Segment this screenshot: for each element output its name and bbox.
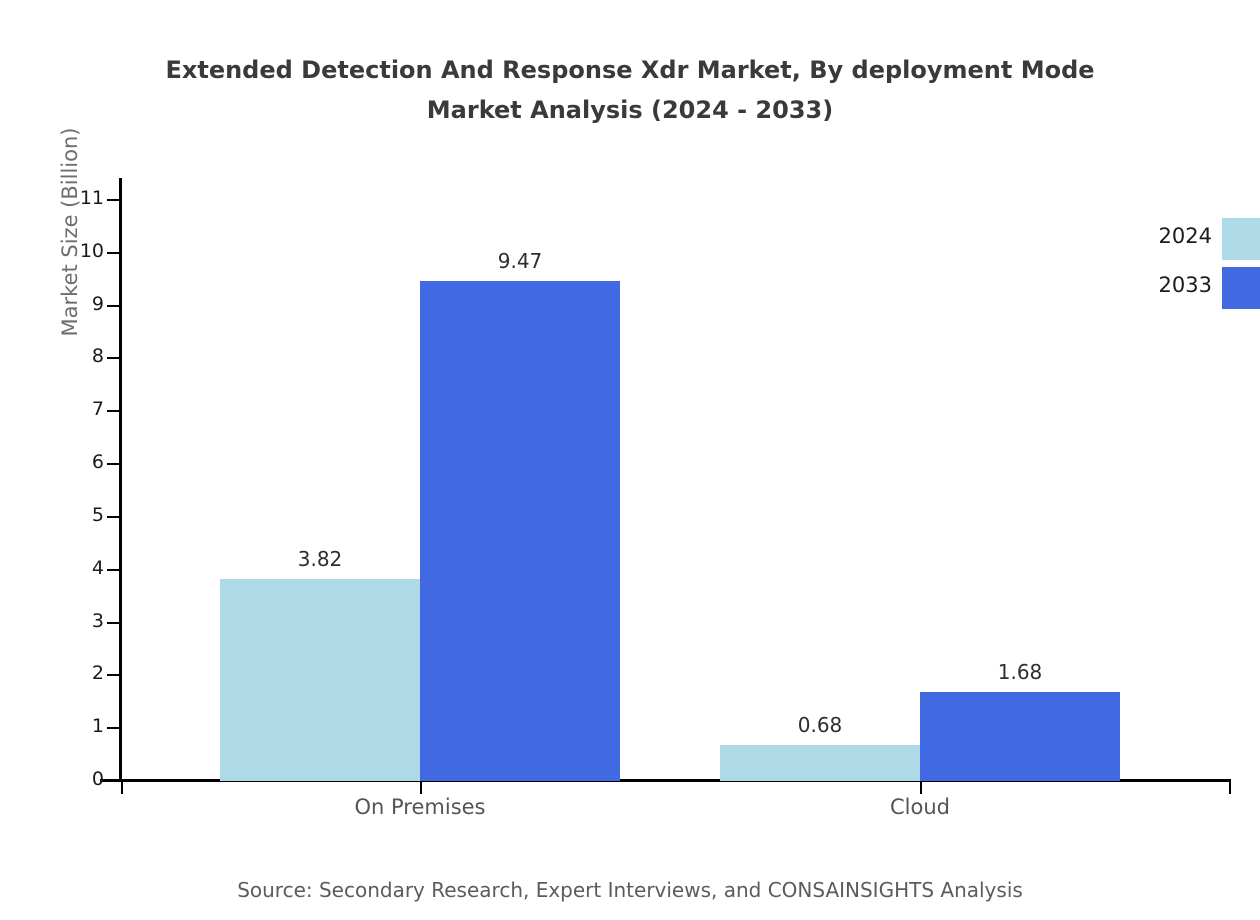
legend-item-2024[interactable]: 2024 <box>1120 218 1260 267</box>
x-tick-label-on-premises: On Premises <box>260 795 580 819</box>
y-tick-5 <box>107 516 120 518</box>
y-tick-label-5: 5 <box>60 504 104 526</box>
bar-on-premises-2033[interactable] <box>420 281 620 781</box>
source-note: Source: Secondary Research, Expert Inter… <box>0 878 1260 902</box>
y-tick-4 <box>107 569 120 571</box>
y-tick-label-6: 6 <box>60 451 104 473</box>
y-tick-9 <box>107 305 120 307</box>
chart-title-line-2: Market Analysis (2024 - 2033) <box>0 90 1260 130</box>
legend-item-2033[interactable]: 2033 <box>1120 267 1260 316</box>
y-tick-8 <box>107 357 120 359</box>
bar-cloud-2024[interactable] <box>720 745 920 781</box>
chart-title-line-1: Extended Detection And Response Xdr Mark… <box>0 50 1260 90</box>
y-tick-label-0: 0 <box>60 768 104 790</box>
bar-on-premises-2024[interactable] <box>220 579 420 781</box>
y-tick-3 <box>107 622 120 624</box>
y-tick-label-1: 1 <box>60 715 104 737</box>
x-tick-on-premises <box>420 781 422 794</box>
chart-title: Extended Detection And Response Xdr Mark… <box>0 50 1260 130</box>
legend-label-2024: 2024 <box>1120 224 1212 248</box>
y-tick-label-3: 3 <box>60 610 104 632</box>
legend-label-2033: 2033 <box>1120 273 1212 297</box>
y-tick-label-4: 4 <box>60 557 104 579</box>
x-tick-label-cloud: Cloud <box>760 795 1080 819</box>
bar-value-label-on-premises-2033: 9.47 <box>420 249 620 273</box>
y-tick-2 <box>107 674 120 676</box>
y-tick-10 <box>107 252 120 254</box>
chart-figure: Extended Detection And Response Xdr Mark… <box>0 0 1260 920</box>
y-tick-label-11: 11 <box>60 187 104 209</box>
x-edge-tick-1 <box>1229 781 1231 794</box>
y-axis-line <box>119 178 122 782</box>
y-tick-6 <box>107 463 120 465</box>
y-tick-label-10: 10 <box>60 240 104 262</box>
x-edge-tick-0 <box>121 781 123 794</box>
chart-legend: 2024 2033 <box>1120 218 1260 316</box>
x-tick-cloud <box>920 781 922 794</box>
y-axis-label-wrap: Market Size (Billion) <box>0 0 60 920</box>
bar-cloud-2033[interactable] <box>920 692 1120 781</box>
bar-value-label-cloud-2033: 1.68 <box>920 660 1120 684</box>
bar-value-label-cloud-2024: 0.68 <box>720 713 920 737</box>
y-tick-7 <box>107 410 120 412</box>
y-tick-0 <box>107 780 120 782</box>
y-tick-1 <box>107 727 120 729</box>
legend-swatch-2033 <box>1222 267 1260 309</box>
y-tick-11 <box>107 199 120 201</box>
legend-swatch-2024 <box>1222 218 1260 260</box>
y-tick-label-8: 8 <box>60 345 104 367</box>
y-tick-label-7: 7 <box>60 398 104 420</box>
bar-value-label-on-premises-2024: 3.82 <box>220 547 420 571</box>
y-tick-label-9: 9 <box>60 293 104 315</box>
y-tick-label-2: 2 <box>60 662 104 684</box>
